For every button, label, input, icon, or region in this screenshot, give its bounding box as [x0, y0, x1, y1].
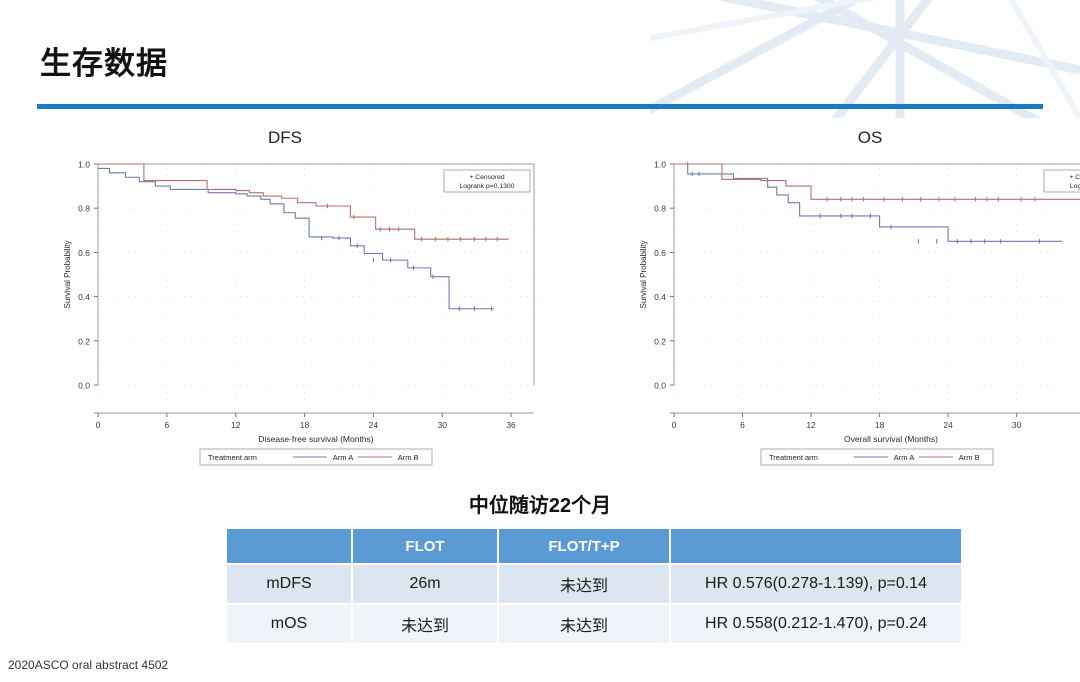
svg-text:Arm A: Arm A	[333, 453, 353, 462]
svg-text:Arm A: Arm A	[894, 453, 914, 462]
svg-text:0.6: 0.6	[654, 248, 666, 258]
slide-root: 生存数据 DFS 0.00.20.40.60.81.0061218243036D…	[0, 0, 1080, 682]
svg-text:Arm B: Arm B	[398, 453, 419, 462]
svg-text:0.4: 0.4	[78, 292, 90, 302]
svg-text:0.8: 0.8	[78, 204, 90, 214]
os-chart-title: OS	[790, 128, 950, 148]
svg-text:0.0: 0.0	[654, 381, 666, 391]
os-chart: 0.00.20.40.60.81.0061218243036Overall su…	[612, 156, 1080, 481]
svg-text:24: 24	[943, 420, 953, 430]
cell-mdfs-hr: HR 0.576(0.278-1.139), p=0.14	[671, 565, 961, 603]
row-label-mdfs: mDFS	[227, 565, 351, 603]
median-followup-subtitle: 中位随访22个月	[0, 489, 1080, 518]
svg-text:6: 6	[164, 420, 169, 430]
svg-text:Logrank p=0.1300: Logrank p=0.1300	[460, 183, 515, 190]
dfs-chart: 0.00.20.40.60.81.0061218243036Disease-fr…	[36, 156, 548, 481]
svg-text:+ Censored: + Censored	[469, 174, 505, 181]
svg-text:Survival Probability: Survival Probability	[63, 240, 72, 308]
table-header-row: FLOT FLOT/T+P	[227, 529, 961, 563]
svg-text:12: 12	[231, 420, 241, 430]
svg-text:18: 18	[300, 420, 310, 430]
svg-text:0.0: 0.0	[78, 381, 90, 391]
svg-text:0.2: 0.2	[654, 336, 666, 346]
svg-text:12: 12	[806, 420, 816, 430]
svg-text:30: 30	[437, 420, 447, 430]
svg-text:0.2: 0.2	[78, 336, 90, 346]
svg-text:6: 6	[740, 420, 745, 430]
svg-text:Treatment arm: Treatment arm	[769, 453, 818, 462]
cell-mos-flot-tp: 未达到	[499, 605, 669, 643]
table-row: mDFS 26m 未达到 HR 0.576(0.278-1.139), p=0.…	[227, 565, 961, 603]
table-header-blank-left	[227, 529, 351, 563]
background-watermark	[650, 0, 1080, 118]
svg-text:Disease-free survival (Months): Disease-free survival (Months)	[258, 434, 373, 444]
page-title: 生存数据	[40, 38, 168, 83]
cell-mos-flot: 未达到	[353, 605, 497, 643]
svg-text:Arm B: Arm B	[959, 453, 980, 462]
svg-text:0: 0	[672, 420, 677, 430]
table-row: mOS 未达到 未达到 HR 0.558(0.212-1.470), p=0.2…	[227, 605, 961, 643]
cell-mdfs-flot-tp: 未达到	[499, 565, 669, 603]
table-header-flot-tp: FLOT/T+P	[499, 529, 669, 563]
svg-text:0: 0	[96, 420, 101, 430]
footer-citation: 2020ASCO oral abstract 4502	[8, 658, 168, 672]
table-header-blank-right	[671, 529, 961, 563]
svg-text:Treatment arm: Treatment arm	[208, 453, 257, 462]
survival-table: FLOT FLOT/T+P mDFS 26m 未达到 HR 0.576(0.27…	[225, 527, 963, 645]
svg-text:1.0: 1.0	[654, 160, 666, 170]
svg-text:0.8: 0.8	[654, 204, 666, 214]
svg-text:0.6: 0.6	[78, 248, 90, 258]
svg-text:36: 36	[506, 420, 516, 430]
svg-text:24: 24	[369, 420, 379, 430]
title-underline-rule	[37, 104, 1043, 109]
svg-text:18: 18	[875, 420, 885, 430]
row-label-mos: mOS	[227, 605, 351, 643]
svg-text:1.0: 1.0	[78, 160, 90, 170]
cell-mos-hr: HR 0.558(0.212-1.470), p=0.24	[671, 605, 961, 643]
svg-text:Overall survival (Months): Overall survival (Months)	[844, 434, 938, 444]
dfs-chart-title: DFS	[205, 128, 365, 148]
svg-text:0.4: 0.4	[654, 292, 666, 302]
svg-text:+ Censored: + Censored	[1069, 174, 1080, 181]
table-header-flot: FLOT	[353, 529, 497, 563]
svg-text:Survival Probability: Survival Probability	[639, 240, 648, 308]
svg-text:30: 30	[1012, 420, 1022, 430]
svg-text:Logrank p=: Logrank p=	[1070, 183, 1080, 190]
cell-mdfs-flot: 26m	[353, 565, 497, 603]
survival-table-wrapper: FLOT FLOT/T+P mDFS 26m 未达到 HR 0.576(0.27…	[225, 527, 957, 645]
